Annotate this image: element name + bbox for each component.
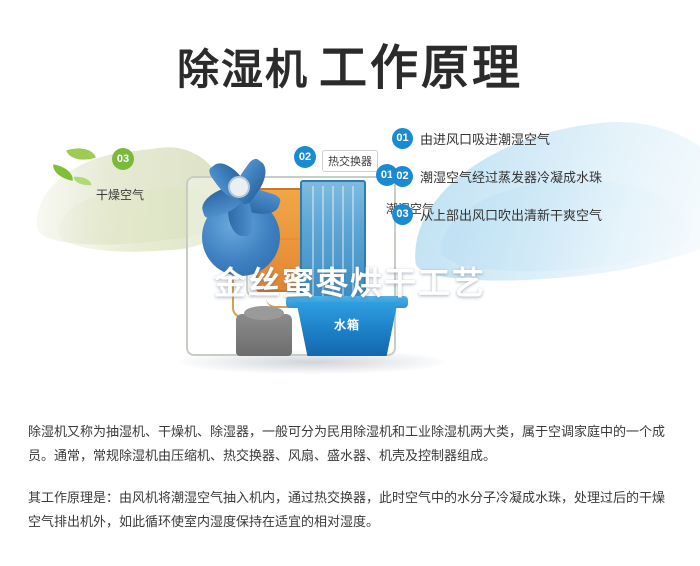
step-item: 03 从上部出风口吹出清新干爽空气 [392,204,692,225]
fan-hub-center [228,176,250,198]
watermark-text: 金丝蜜枣烘干工艺 [0,258,700,304]
step-text: 从上部出风口吹出清新干爽空气 [420,205,602,224]
page-title: 除湿机工作原理 [0,28,700,98]
description-block: 除湿机又称为抽湿机、干燥机、除湿器，一般可分为民用除湿机和工业除湿机两大类，属于… [28,420,676,534]
step-number: 01 [392,128,413,149]
steps-list: 01 由进风口吸进潮湿空气 02 潮湿空气经过蒸发器冷凝成水珠 03 从上部出风… [392,128,692,242]
description-paragraph: 其工作原理是：由风机将潮湿空气抽入机内，通过热交换器，此时空气中的水分子冷凝成水… [28,486,676,534]
callout-label-dry-air: 干燥空气 [96,186,144,203]
callout-badge-03: 03 [112,148,134,170]
callout-badge-02: 02 [294,146,316,168]
step-number: 03 [392,204,413,225]
water-tank-label: 水箱 [292,316,402,333]
step-item: 02 潮湿空气经过蒸发器冷凝成水珠 [392,166,692,187]
page-title-part1: 除湿机 [177,45,309,94]
step-text: 由进风口吸进潮湿空气 [420,129,550,148]
description-paragraph: 除湿机又称为抽湿机、干燥机、除湿器，一般可分为民用除湿机和工业除湿机两大类，属于… [28,420,676,468]
infographic-page: 除湿机工作原理 水箱 [0,0,700,566]
step-number: 02 [392,166,413,187]
step-item: 01 由进风口吸进潮湿空气 [392,128,692,149]
step-text: 潮湿空气经过蒸发器冷凝成水珠 [420,167,602,186]
page-title-part2: 工作原理 [319,40,523,96]
heat-exchanger-tag: 热交换器 [322,150,378,172]
compressor [236,314,292,356]
